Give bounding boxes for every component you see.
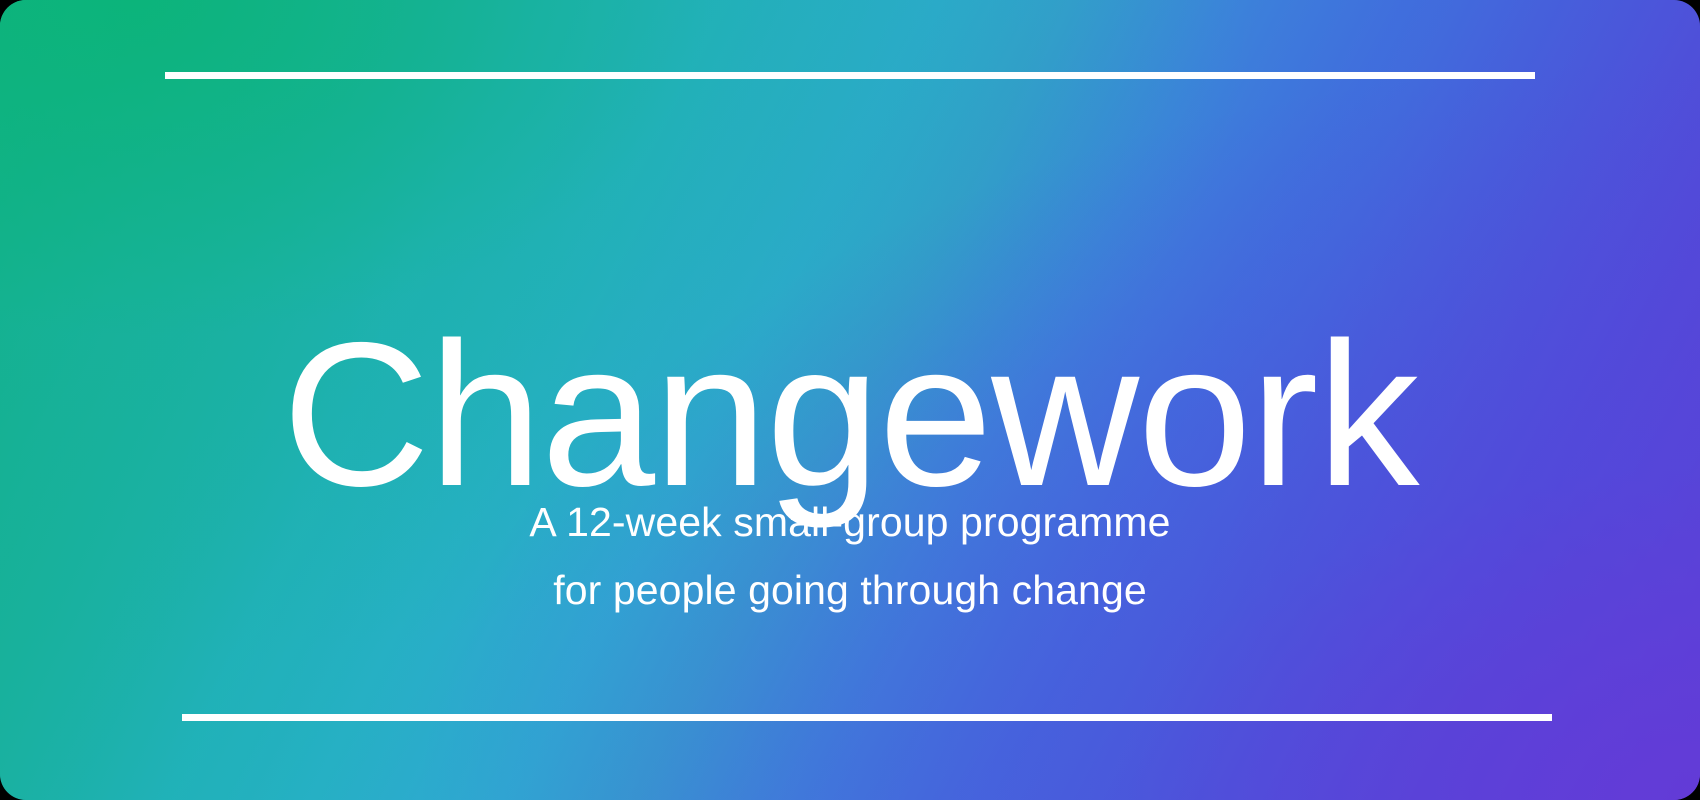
changework-banner-card: Changework A 12-week small-group program…: [0, 0, 1700, 800]
tagline-line-2: for people going through change: [0, 556, 1700, 624]
page-title: Changework: [0, 312, 1700, 517]
banner-content: Changework A 12-week small-group program…: [0, 0, 1700, 800]
tagline-line-1: A 12-week small-group programme: [0, 488, 1700, 556]
bottom-divider-rule: [182, 714, 1552, 721]
top-divider-rule: [165, 72, 1535, 79]
tagline: A 12-week small-group programme for peop…: [0, 488, 1700, 624]
